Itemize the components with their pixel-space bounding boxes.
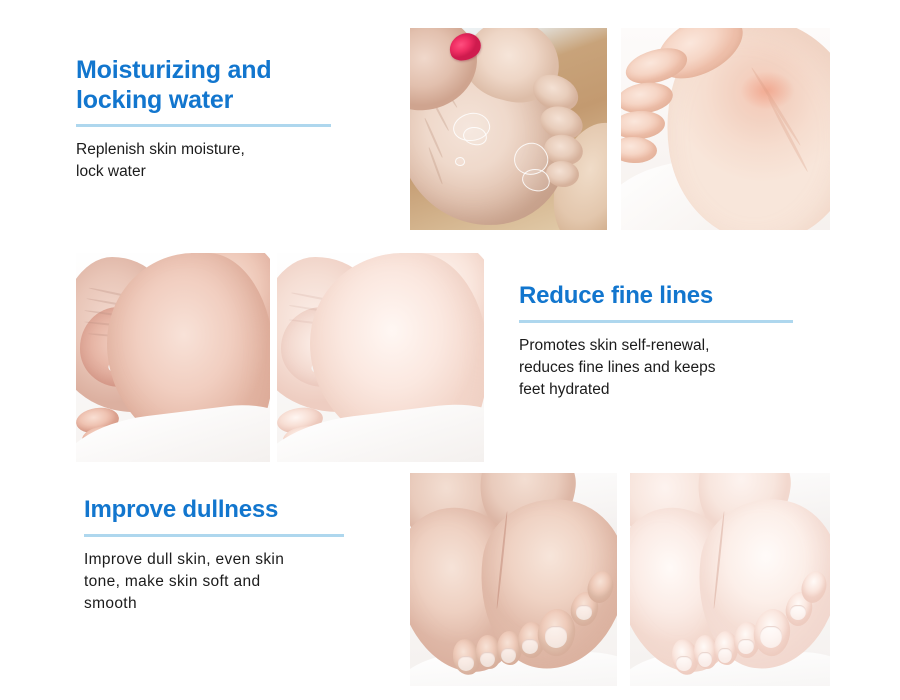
photo-feet-top-before — [410, 473, 617, 686]
toenail — [790, 605, 806, 620]
peeling-skin-flake — [455, 157, 465, 166]
photo-feet-side-before — [76, 253, 270, 462]
toenail — [545, 626, 568, 647]
section-dullness-body: Improve dull skin, even skin tone, make … — [84, 549, 354, 615]
photo-smooth-sole-scene — [621, 28, 830, 230]
infographic-canvas: Moisturizing and locking water Replenish… — [0, 0, 900, 700]
section-fine-lines-divider — [519, 320, 793, 323]
section-moisturizing-body: Replenish skin moisture, lock water — [76, 139, 336, 183]
photo-dry-cracked-sole — [410, 28, 607, 230]
section-fine-lines-body: Promotes skin self-renewal, reduces fine… — [519, 335, 804, 401]
photo-feet-top-after-scene — [630, 473, 830, 686]
toenail — [718, 648, 732, 663]
toenail — [698, 652, 712, 667]
photo-dry-cracked-sole-scene — [410, 28, 607, 230]
section-fine-lines-text: Reduce fine lines Promotes skin self-ren… — [519, 281, 804, 401]
photo-feet-top-after — [630, 473, 830, 686]
toenail — [760, 626, 782, 647]
photo-feet-side-after-scene — [277, 253, 484, 462]
section-moisturizing-heading: Moisturizing and locking water — [76, 55, 336, 115]
section-dullness-text: Improve dullness Improve dull skin, even… — [84, 495, 354, 615]
section-dullness-heading: Improve dullness — [84, 495, 354, 524]
section-moisturizing-text: Moisturizing and locking water Replenish… — [76, 55, 336, 183]
toenail — [738, 639, 754, 654]
section-dullness-divider — [84, 534, 344, 537]
toenail — [576, 605, 593, 620]
photo-feet-side-before-scene — [76, 253, 270, 462]
section-fine-lines-heading: Reduce fine lines — [519, 281, 804, 310]
photo-feet-side-after — [277, 253, 484, 462]
toenail — [501, 648, 515, 663]
toenail — [480, 652, 494, 667]
section-moisturizing-divider — [76, 124, 331, 127]
photo-smooth-sole — [621, 28, 830, 230]
photo-feet-top-before-scene — [410, 473, 617, 686]
